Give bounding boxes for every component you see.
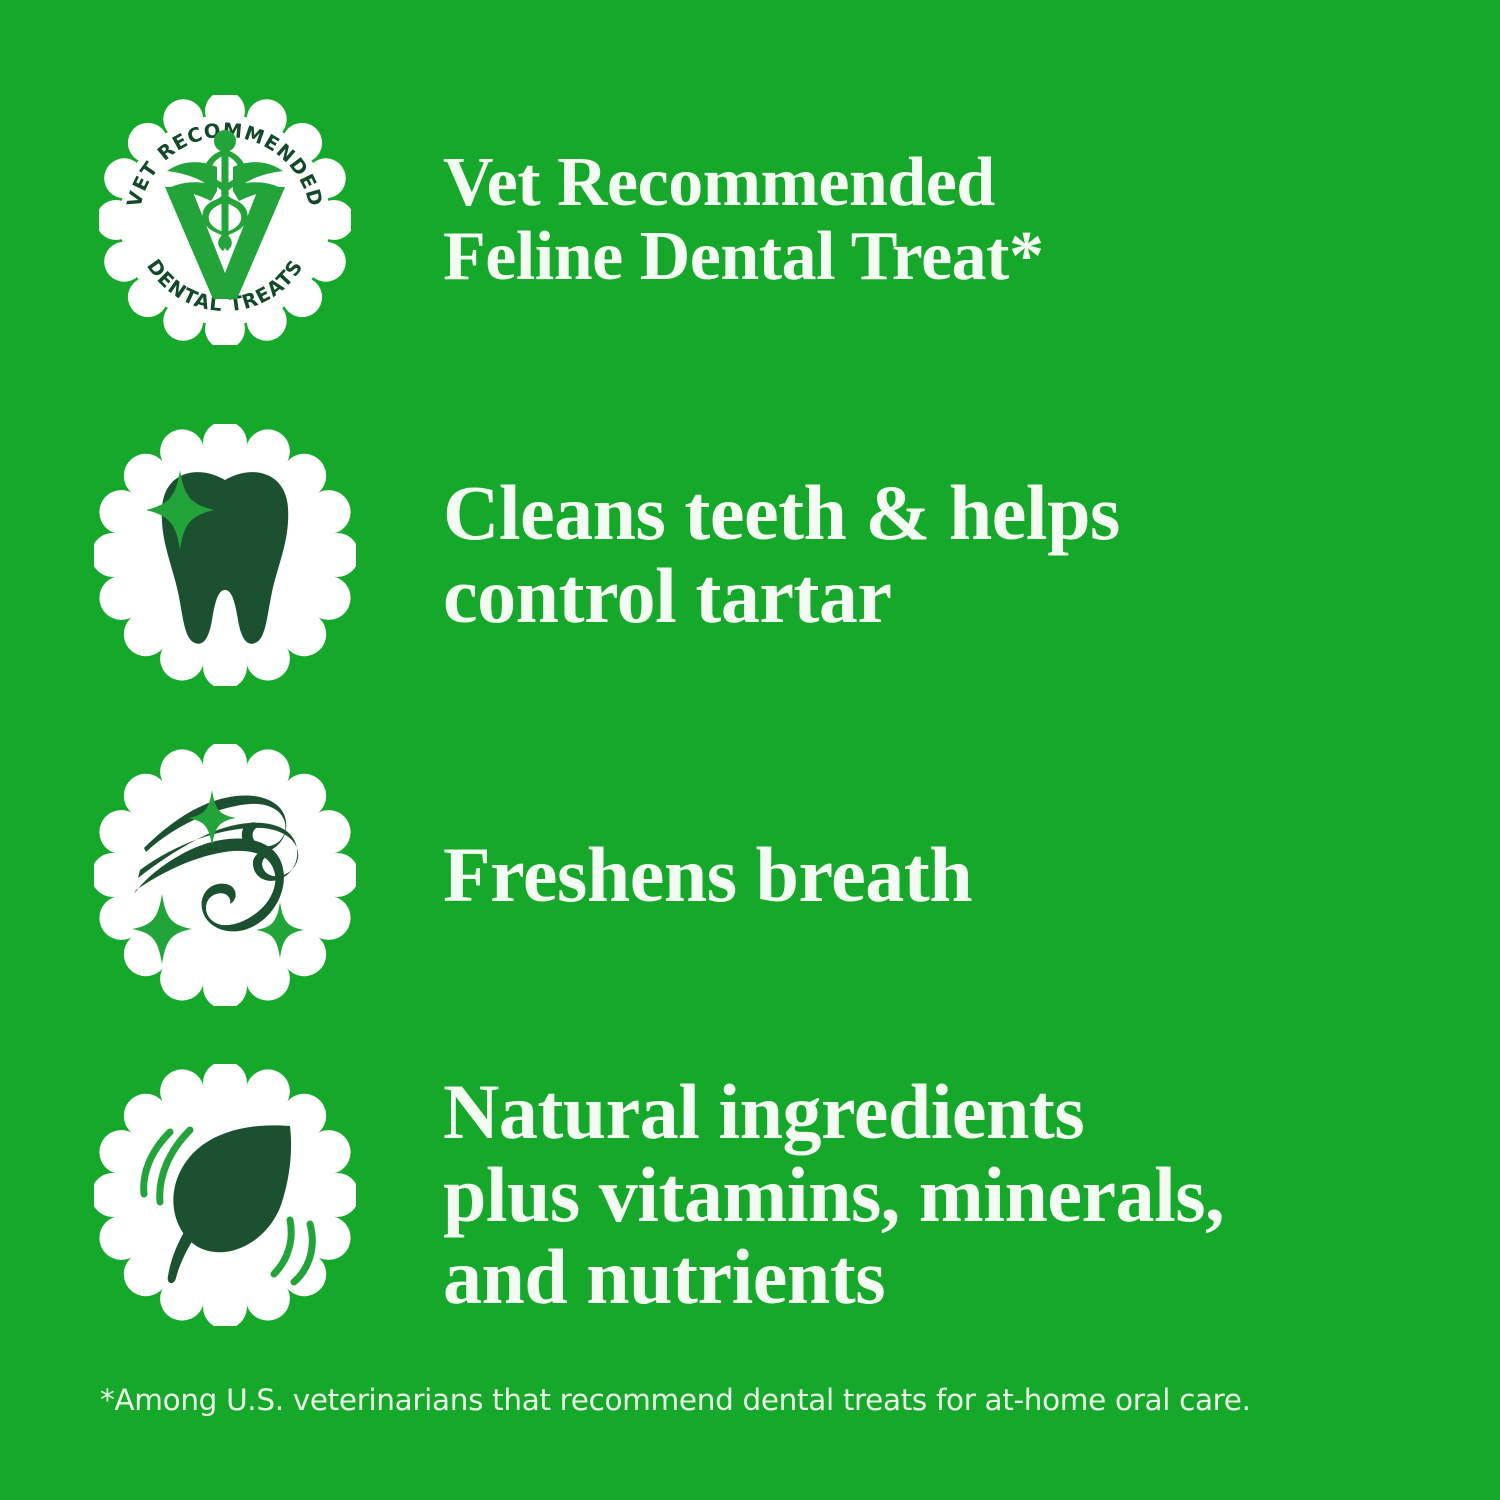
feature-label-cleans-teeth: Cleans teeth & helps control tartar bbox=[443, 472, 1120, 637]
sparkling-tooth-icon bbox=[75, 425, 375, 685]
feature-row-freshens-breath: Freshens breath bbox=[0, 740, 1500, 1010]
feature-label-vet-recommended: Vet Recommended Feline Dental Treat* bbox=[443, 146, 1043, 294]
vet-recommended-seal-icon: VET RECOMMENDED DENTAL TREATS bbox=[75, 90, 375, 350]
product-feature-panel: VET RECOMMENDED DENTAL TREATS bbox=[0, 0, 1500, 1500]
natural-leaf-icon bbox=[75, 1065, 375, 1325]
footnote-disclaimer: *Among U.S. veterinarians that recommend… bbox=[100, 1382, 1420, 1419]
feature-row-cleans-teeth: Cleans teeth & helps control tartar bbox=[0, 420, 1500, 690]
feature-label-freshens-breath: Freshens breath bbox=[443, 834, 972, 917]
fresh-breath-wind-icon bbox=[75, 745, 375, 1005]
feature-row-natural-ingredients: Natural ingredients plus vitamins, miner… bbox=[0, 1055, 1500, 1335]
feature-label-natural-ingredients: Natural ingredients plus vitamins, miner… bbox=[443, 1071, 1224, 1319]
feature-row-vet-recommended: VET RECOMMENDED DENTAL TREATS bbox=[0, 90, 1500, 350]
